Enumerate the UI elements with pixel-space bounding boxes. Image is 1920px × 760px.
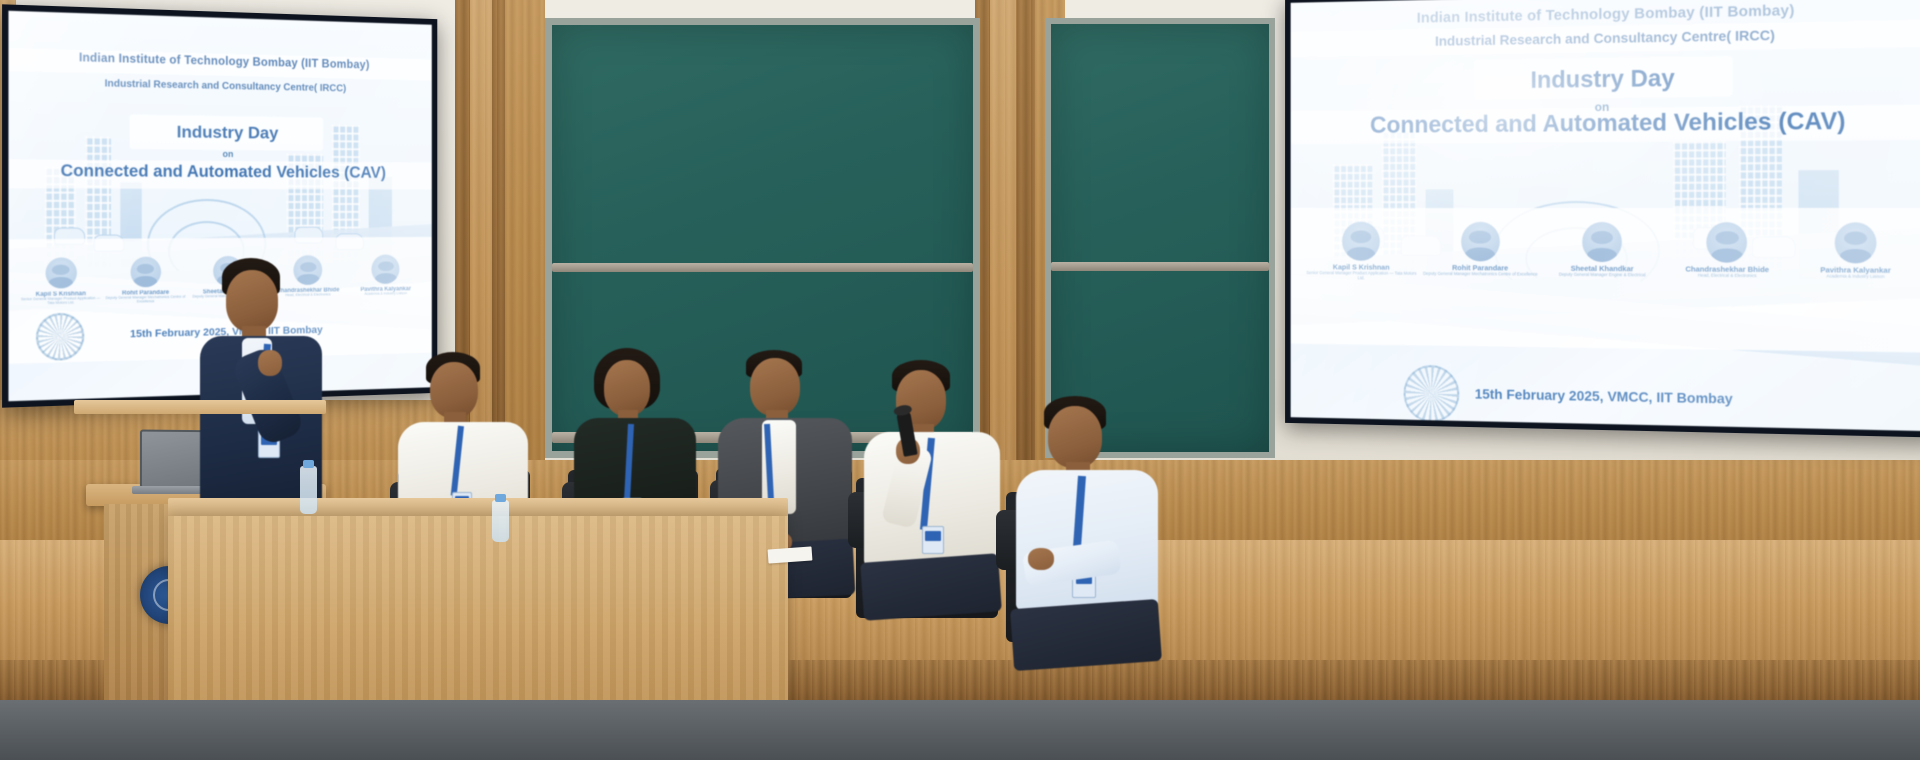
leg [1010, 599, 1162, 671]
head [1048, 406, 1102, 468]
right-slide-text: Indian Institute of Technology Bombay (I… [1291, 0, 1920, 431]
speaker-card: Rohit Parandare Deputy General Manager M… [104, 256, 188, 305]
slide-institute-text: Indian Institute of Technology Bombay (I… [1291, 0, 1920, 29]
badge [922, 526, 944, 554]
speaker-avatar [1835, 222, 1877, 263]
slide-connector-text: on [8, 147, 431, 161]
right-screen-surface: Indian Institute of Technology Bombay (I… [1291, 0, 1920, 431]
slide-topic-text: Connected and Automated Vehicles (CAV) [1291, 107, 1920, 141]
leg [860, 553, 1002, 620]
hand [1028, 548, 1054, 570]
speaker-card: Kapil S Krishnan Senior General Manager … [18, 257, 104, 307]
head [604, 360, 650, 416]
speaker-card: Pavithra Kalyankar Academia & Industry L… [347, 254, 424, 297]
head [750, 358, 800, 416]
slide-event-title: Industry Day [8, 120, 431, 145]
panelist-4-speaking[interactable] [862, 360, 1006, 630]
speaker-role: Senior General Manager Product Applicati… [1303, 271, 1420, 281]
chalkboard-divider-rail [552, 263, 973, 272]
speaker-role: Academia & Industry Liaison [1791, 274, 1920, 280]
head [430, 362, 478, 418]
speaker-role: Deputy General Manager Mechatronics Cent… [1420, 272, 1540, 278]
bottle-cap [303, 460, 314, 468]
speaker-avatar [1342, 222, 1380, 261]
speaker-avatar [1582, 222, 1622, 262]
speaker-role: Deputy General Manager Mechatronics Cent… [104, 296, 188, 305]
slide-event-title: Industry Day [1291, 61, 1920, 98]
speaker-avatar [45, 257, 76, 288]
bottle-cap [495, 494, 506, 502]
chalkboard-right-sliver [1045, 18, 1275, 458]
speaker-role: Head, Electrical & Electronics [1664, 273, 1791, 279]
water-bottle[interactable] [492, 500, 509, 542]
right-projection-screen[interactable]: Indian Institute of Technology Bombay (I… [1285, 0, 1920, 438]
front-desk-top-secondary [74, 400, 326, 414]
slide-institute-text: Indian Institute of Technology Bombay (I… [8, 50, 431, 73]
floor [0, 700, 1920, 760]
speaker-card: Sheetal Khandkar Deputy General Manager … [1541, 222, 1664, 278]
speaker-card: Kapil S Krishnan Senior General Manager … [1303, 222, 1420, 282]
panelist-5-seated[interactable] [1012, 396, 1164, 676]
right-slide-speaker-row: Kapil S Krishnan Senior General Manager … [1303, 222, 1920, 285]
speaker-role: Deputy General Manager Engine & Electric… [1541, 272, 1664, 278]
slide-topic-text: Connected and Automated Vehicles (CAV) [8, 161, 431, 183]
speaker-card: Chandrashekhar Bhide Head, Electrical & … [1664, 222, 1791, 279]
speaker-card: Pavithra Kalyankar Academia & Industry L… [1791, 222, 1920, 280]
speaker-card: Rohit Parandare Deputy General Manager M… [1420, 222, 1540, 278]
speaker-role: Senior General Manager Product Applicati… [18, 297, 104, 307]
speaker-avatar [1707, 222, 1748, 263]
slide-date-venue-text: 15th February 2025, VMCC, IIT Bombay [1291, 382, 1920, 410]
water-bottle[interactable] [300, 466, 317, 514]
head [226, 270, 278, 332]
speaker-role: Academia & Industry Liaison [347, 292, 424, 297]
slide-centre-text: Industrial Research and Consultancy Cent… [8, 76, 431, 96]
slide-centre-text: Industrial Research and Consultancy Cent… [1291, 24, 1920, 51]
speaker-avatar [372, 254, 400, 283]
speaker-avatar [1461, 222, 1500, 262]
lecture-hall-photo: Indian Institute of Technology Bombay (I… [0, 0, 1920, 760]
speaker-avatar [130, 257, 160, 288]
chalkboard-divider-rail [1051, 262, 1269, 271]
